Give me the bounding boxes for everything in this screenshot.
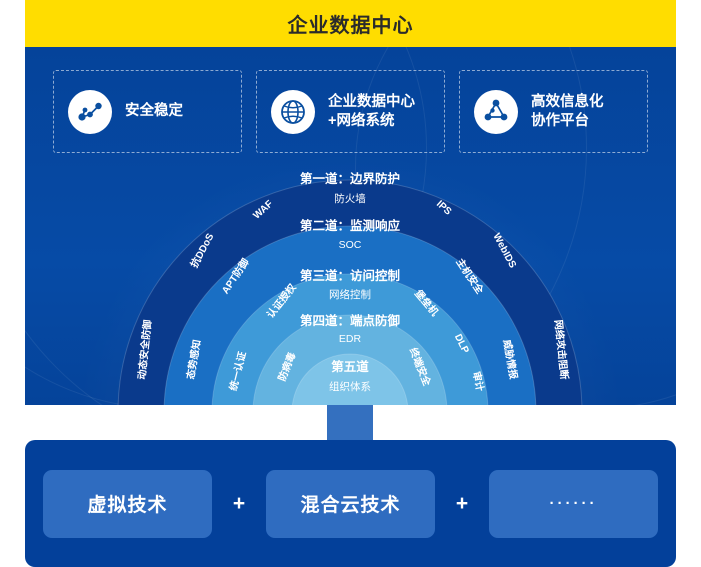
page-title-band: 企业数据中心 bbox=[25, 0, 676, 47]
feature-card-list: 安全稳定 企业数据中心 +网络系统 bbox=[53, 70, 648, 153]
defense-layer-2-subtitle: SOC bbox=[339, 239, 362, 251]
feature-card-security[interactable]: 安全稳定 bbox=[53, 70, 242, 153]
plus-operator: + bbox=[435, 492, 489, 516]
tech-card-virtualization[interactable]: 虚拟技术 bbox=[43, 470, 212, 538]
feature-card-label: 企业数据中心 +网络系统 bbox=[328, 93, 415, 130]
defense-layer-4-title: 第四道：端点防御 bbox=[300, 313, 401, 328]
page-title: 企业数据中心 bbox=[288, 9, 414, 38]
globe-icon bbox=[271, 90, 315, 134]
defense-layer-4-subtitle: EDR bbox=[339, 333, 362, 345]
defense-layer-5-title: 第五道 bbox=[331, 359, 369, 374]
defense-layer-5-subtitle: 组织体系 bbox=[329, 380, 371, 393]
feature-card-datacenter-network[interactable]: 企业数据中心 +网络系统 bbox=[256, 70, 445, 153]
network-nodes-icon bbox=[68, 90, 112, 134]
tech-card-hybrid-cloud[interactable]: 混合云技术 bbox=[266, 470, 435, 538]
collaboration-nodes-icon bbox=[474, 90, 518, 134]
main-blue-panel: 安全稳定 企业数据中心 +网络系统 bbox=[25, 47, 676, 405]
defense-layer-1-title: 第一道：边界防护 bbox=[300, 171, 400, 186]
connector-stub bbox=[327, 405, 373, 445]
defense-layer-3-title: 第三道：访问控制 bbox=[300, 268, 400, 283]
defense-layer-1-subtitle: 防火墙 bbox=[334, 192, 366, 205]
defense-layer-2-title: 第二道：监测响应 bbox=[300, 218, 401, 233]
infographic-root: 企业数据中心 安全稳定 bbox=[0, 0, 701, 567]
feature-card-label: 安全稳定 bbox=[125, 102, 183, 121]
feature-card-collaboration[interactable]: 高效信息化 协作平台 bbox=[459, 70, 648, 153]
plus-operator: + bbox=[212, 492, 266, 516]
defense-layer-diagram: 第一道：边界防护 防火墙 第二道：监测响应 SOC 第三道：访问控制 网络控制 … bbox=[25, 160, 676, 405]
tech-card-more[interactable]: ······ bbox=[489, 470, 658, 538]
defense-layer-3-subtitle: 网络控制 bbox=[329, 288, 371, 301]
feature-card-label: 高效信息化 协作平台 bbox=[531, 93, 604, 130]
technology-panel: 虚拟技术 + 混合云技术 + ······ bbox=[25, 440, 676, 567]
